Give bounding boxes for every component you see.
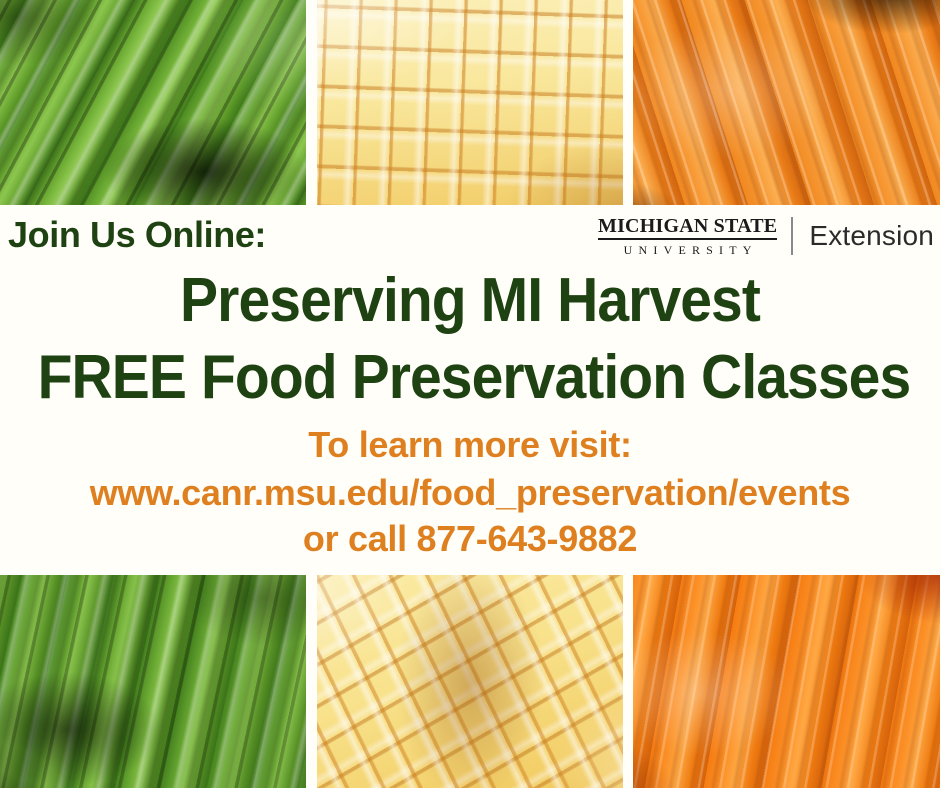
photo-green-beans-bottom (0, 575, 306, 788)
photo-corn-top (317, 0, 623, 205)
photo-corn-bottom (317, 575, 623, 788)
msu-wordmark: MICHIGAN STATE UNIVERSITY (598, 216, 791, 256)
flyer-canvas: Join Us Online: MICHIGAN STATE UNIVERSIT… (0, 0, 940, 788)
headline-primary: Preserving MI Harvest (38, 265, 903, 336)
msu-extension-logo: MICHIGAN STATE UNIVERSITY Extension (598, 216, 934, 256)
carrots-shading (633, 575, 940, 788)
carrots-shading (633, 0, 940, 205)
cta-phone-number[interactable]: or call 877-643-9882 (0, 518, 940, 560)
cta-website-url[interactable]: www.canr.msu.edu/food_preservation/event… (0, 472, 940, 514)
photo-carrots-top (633, 0, 940, 205)
photo-green-beans-top (0, 0, 306, 205)
eyebrow-text: Join Us Online: (8, 214, 266, 256)
headline-secondary: FREE Food Preservation Classes (38, 342, 903, 413)
msu-extension-text: Extension (793, 222, 934, 250)
msu-university-text: UNIVERSITY (618, 240, 758, 256)
beans-shading (0, 0, 306, 205)
corn-shading (317, 0, 623, 205)
cta-intro-text: To learn more visit: (0, 424, 940, 466)
msu-michigan-state-text: MICHIGAN STATE (598, 216, 777, 240)
beans-shading (0, 575, 306, 788)
corn-shading (317, 575, 623, 788)
photo-carrots-bottom (633, 575, 940, 788)
